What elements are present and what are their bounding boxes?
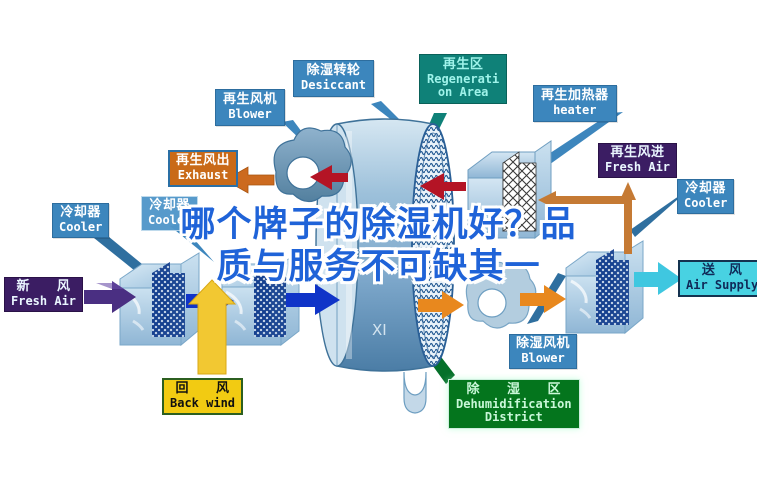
label-regeneration-area-en1: Regenerati	[427, 73, 499, 86]
headline-line-2: 质与服务不可缺其一	[0, 247, 757, 288]
headline-line-1: 哪个牌子的除湿机好？品	[0, 205, 757, 246]
label-fresh-air-en: Fresh Air	[11, 295, 76, 308]
label-back-wind-cn: 回 风	[170, 382, 235, 397]
label-exhaust-en: Exhaust	[176, 169, 230, 182]
label-dehumidification-blower-cn: 除湿风机	[516, 337, 570, 352]
label-regeneration-blower-en: Blower	[223, 108, 277, 121]
rotor-watermark: XI	[372, 321, 387, 339]
label-dehumidification-blower: 除湿风机 Blower	[509, 334, 577, 369]
diagram-canvas: XI	[0, 0, 757, 488]
label-regeneration-area: 再生区 Regenerati on Area	[419, 54, 507, 104]
label-regeneration-fresh-air: 再生风进 Fresh Air	[598, 143, 677, 178]
label-regeneration-area-cn: 再生区	[427, 58, 499, 73]
label-desiccant-rotor-cn: 除湿转轮	[301, 64, 366, 79]
label-exhaust: 再生风出 Exhaust	[168, 150, 238, 187]
label-regeneration-heater: 再生加热器 heater	[533, 85, 617, 122]
label-regeneration-fresh-air-cn: 再生风进	[605, 146, 670, 161]
label-dehumidification-district: 除 湿 区 Dehumidification District	[448, 379, 580, 429]
label-back-wind: 回 风 Back wind	[162, 378, 243, 415]
label-desiccant-rotor: 除湿转轮 Desiccant	[293, 60, 374, 97]
label-dehumidification-blower-en: Blower	[516, 352, 570, 365]
label-back-wind-en: Back wind	[170, 397, 235, 410]
label-exhaust-cn: 再生风出	[176, 154, 230, 169]
label-regeneration-blower-cn: 再生风机	[223, 93, 277, 108]
overlay-headline: 哪个牌子的除湿机好？品 质与服务不可缺其一	[0, 205, 757, 288]
label-regeneration-blower: 再生风机 Blower	[215, 89, 285, 126]
regeneration-fan	[274, 128, 351, 202]
label-regeneration-area-en2: on Area	[427, 86, 499, 99]
label-cooler-right-cn: 冷却器	[684, 182, 727, 197]
condensate-drain	[404, 372, 426, 413]
label-regeneration-heater-en: heater	[541, 104, 609, 117]
label-dehumidification-district-en2: District	[456, 411, 572, 424]
label-desiccant-rotor-en: Desiccant	[301, 79, 366, 92]
label-regeneration-fresh-air-en: Fresh Air	[605, 161, 670, 174]
label-regeneration-heater-cn: 再生加热器	[541, 89, 609, 104]
label-dehumidification-district-cn: 除 湿 区	[456, 383, 572, 398]
label-dehumidification-district-en1: Dehumidification	[456, 398, 572, 411]
